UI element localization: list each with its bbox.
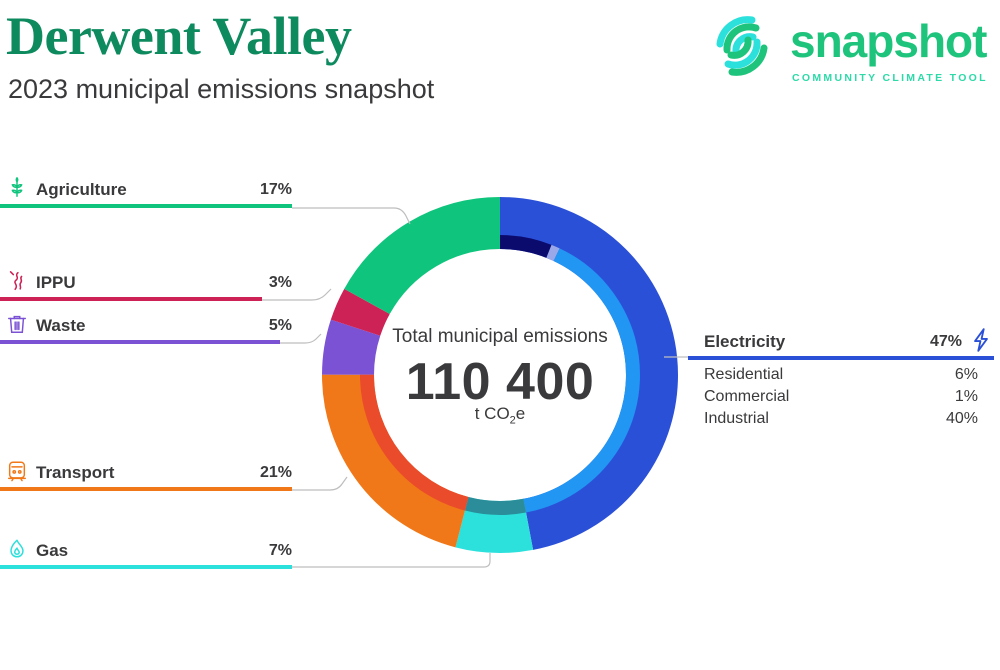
legend-percent: 47% <box>930 330 962 354</box>
legend-row: IPPU 3% <box>0 271 300 297</box>
electricity-subitems: Residential 6% Commercial 1% Industrial … <box>704 364 994 430</box>
legend-percent: 5% <box>269 314 292 338</box>
smoke-icon <box>6 269 28 293</box>
trash-icon <box>6 312 28 336</box>
legend-row: Electricity 47% <box>688 330 994 356</box>
brand-logo: snapshot COMMUNITY CLIMATE TOOL <box>706 8 998 92</box>
legend-row: Agriculture 17% <box>0 178 300 204</box>
legend-bar <box>0 297 262 301</box>
legend-row: Gas 7% <box>0 539 300 565</box>
legend-label: Gas <box>36 539 68 563</box>
legend-label: Waste <box>36 314 85 338</box>
subitem-percent: 6% <box>955 364 978 386</box>
subitem-industrial[interactable]: Industrial 40% <box>704 408 994 430</box>
logo-tagline: COMMUNITY CLIMATE TOOL <box>792 72 988 84</box>
infographic-page: Derwent Valley 2023 municipal emissions … <box>0 0 1000 670</box>
subitem-residential[interactable]: Residential 6% <box>704 364 994 386</box>
legend-bar <box>0 340 280 344</box>
legend-label: Electricity <box>704 330 785 354</box>
legend-row: Waste 5% <box>0 314 300 340</box>
legend-label: IPPU <box>36 271 76 295</box>
legend-percent: 21% <box>260 461 292 485</box>
subitem-label: Industrial <box>704 408 769 430</box>
legend-item-electricity[interactable]: Electricity 47% Residential 6% Commercia… <box>688 330 994 356</box>
donut-center-label: Total municipal emissions <box>350 325 650 349</box>
unit-prefix: t CO <box>475 404 510 423</box>
unit-suffix: e <box>516 404 525 423</box>
lightning-bolt-icon <box>968 326 994 354</box>
donut-center-unit: t CO2e <box>350 403 650 431</box>
page-subtitle: 2023 municipal emissions snapshot <box>8 72 434 106</box>
legend-percent: 7% <box>269 539 292 563</box>
legend-label: Agriculture <box>36 178 127 202</box>
legend-item-ippu[interactable]: IPPU 3% <box>0 271 300 305</box>
legend-bar <box>688 356 994 360</box>
wheat-icon <box>6 176 28 200</box>
legend-percent: 17% <box>260 178 292 202</box>
spiral-swirl-icon <box>706 10 778 82</box>
legend-bar <box>0 487 292 491</box>
legend-item-gas[interactable]: Gas 7% <box>0 539 300 573</box>
legend-bar <box>0 204 292 208</box>
flame-icon <box>6 537 28 561</box>
page-title: Derwent Valley <box>6 6 351 66</box>
subitem-percent: 40% <box>946 408 978 430</box>
legend-row: Transport 21% <box>0 461 300 487</box>
logo-wordmark: snapshot <box>790 16 986 66</box>
subitem-label: Residential <box>704 364 783 386</box>
legend-bar <box>0 565 292 569</box>
legend-item-agriculture[interactable]: Agriculture 17% <box>0 178 300 212</box>
subitem-commercial[interactable]: Commercial 1% <box>704 386 994 408</box>
legend-percent: 3% <box>269 271 292 295</box>
legend-item-transport[interactable]: Transport 21% <box>0 461 300 495</box>
train-icon <box>6 459 28 483</box>
legend-item-waste[interactable]: Waste 5% <box>0 314 300 348</box>
legend-label: Transport <box>36 461 114 485</box>
subitem-label: Commercial <box>704 386 789 408</box>
subitem-percent: 1% <box>955 386 978 408</box>
